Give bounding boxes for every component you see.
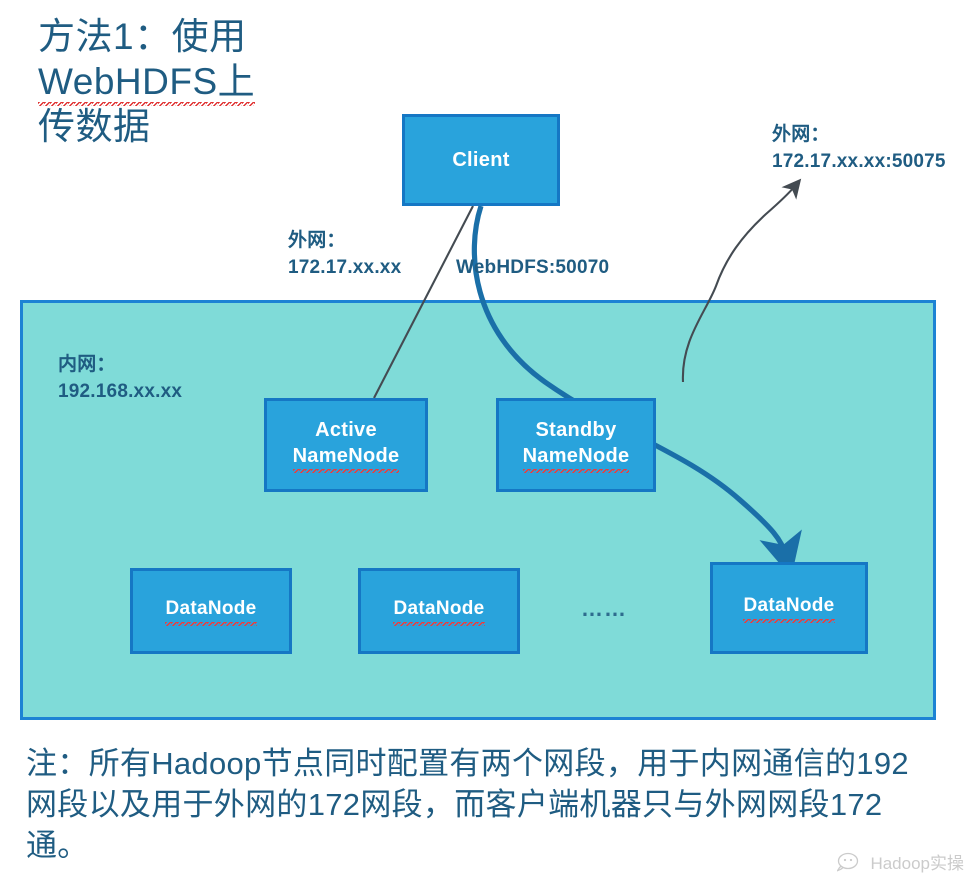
watermark-text: Hadoop实操 [870,849,964,874]
title-line-3: 传数据 [38,106,151,147]
label-webhdfs-port: WebHDFS:50070 [456,255,609,282]
node-standby-namenode-line1: Standby [523,417,630,443]
label-internal-network: 内网： 192.168.xx.xx [58,352,182,406]
node-client[interactable]: Client [402,114,560,206]
node-datanode-1[interactable]: DataNode [130,568,292,654]
node-datanode-3-label: DataNode [743,593,834,622]
datanode-ellipsis: …… [581,596,627,622]
node-active-namenode-line2: NameNode [293,443,400,473]
wechat-bubble-icon [837,852,863,872]
page-title: 方法1：使用 WebHDFS上 传数据 [38,14,338,149]
label-external-network-datanode: 外网： 172.17.xx.xx:50075 [772,122,946,176]
node-client-label: Client [452,147,509,173]
node-datanode-2-label: DataNode [393,596,484,625]
node-standby-namenode-line2: NameNode [523,443,630,473]
bottom-note: 注：所有Hadoop节点同时配置有两个网段，用于内网通信的192网段以及用于外网… [26,744,932,867]
node-active-namenode[interactable]: Active NameNode [264,398,428,492]
node-datanode-1-label: DataNode [165,596,256,625]
node-standby-namenode[interactable]: Standby NameNode [496,398,656,492]
node-datanode-3[interactable]: DataNode [710,562,868,654]
node-datanode-2[interactable]: DataNode [358,568,520,654]
label-external-network-client: 外网： 172.17.xx.xx [288,228,401,282]
watermark: Hadoop实操 [837,849,964,874]
title-line-2-underlined: WebHDFS上 [38,61,255,107]
node-active-namenode-line1: Active [293,417,400,443]
title-line-1: 方法1：使用 [38,16,247,57]
diagram-canvas: 方法1：使用 WebHDFS上 传数据 Client Active NameNo… [0,0,978,896]
